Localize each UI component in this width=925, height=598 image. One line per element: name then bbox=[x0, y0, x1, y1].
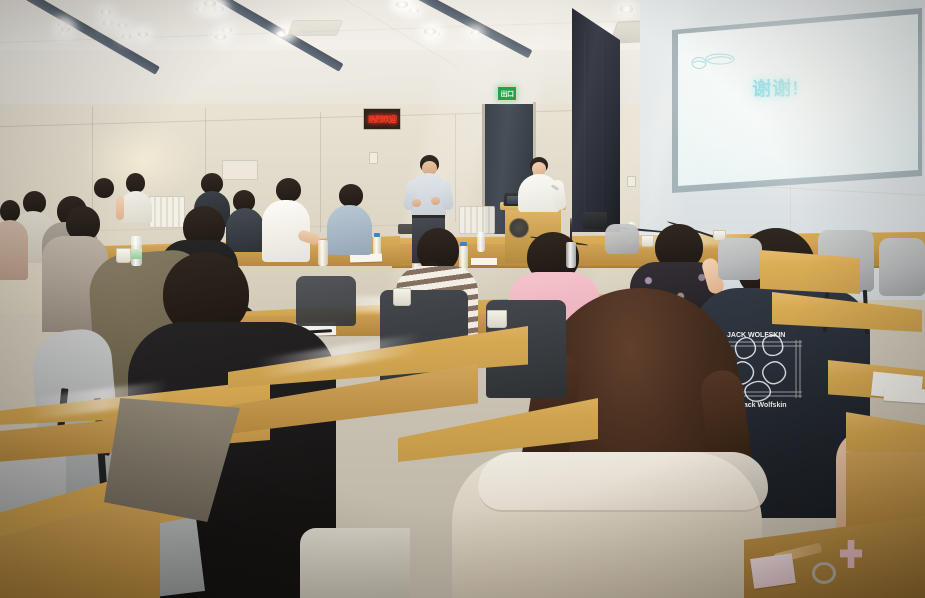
paper-sheet[interactable] bbox=[471, 258, 497, 265]
paper-card[interactable] bbox=[750, 553, 796, 589]
lanyard-ring-icon bbox=[812, 562, 836, 584]
exit-sign-text: 出口 bbox=[501, 89, 514, 99]
paper-cup[interactable] bbox=[393, 288, 411, 306]
ceiling-downlight bbox=[61, 27, 70, 32]
wall-sign-small bbox=[222, 160, 258, 180]
ceiling-downlight bbox=[471, 30, 480, 35]
attendee-torso bbox=[0, 220, 28, 280]
paper-cup[interactable] bbox=[487, 310, 507, 328]
attendee-longhair-ruffle-collar bbox=[478, 452, 768, 512]
paper-cup[interactable] bbox=[116, 248, 131, 263]
ceiling-downlight bbox=[118, 23, 127, 28]
bottle-cap-icon bbox=[460, 242, 467, 246]
ceiling-air-vent bbox=[287, 20, 343, 36]
emergency-exit-sign: 出口 bbox=[497, 86, 517, 101]
conference-room-photo: 热烈欢迎 出口 谢谢! bbox=[0, 0, 925, 598]
curtain-fold bbox=[602, 38, 605, 228]
attendee-torso bbox=[226, 208, 264, 252]
chair-empty[interactable] bbox=[879, 238, 925, 296]
water-bottle[interactable] bbox=[477, 232, 485, 252]
ceiling-downlight bbox=[222, 27, 232, 33]
attendee-head bbox=[339, 184, 363, 207]
attendee-torso bbox=[120, 191, 152, 223]
attendee-head bbox=[276, 178, 301, 202]
ceiling-downlight bbox=[103, 20, 113, 26]
speaker-standing-hand bbox=[412, 199, 421, 207]
paper-sheet[interactable] bbox=[884, 387, 925, 404]
attendee-head bbox=[94, 178, 114, 198]
attendee-head bbox=[126, 173, 145, 193]
wall-switch-plate[interactable] bbox=[627, 176, 636, 187]
ceiling-downlight bbox=[204, 0, 216, 7]
wall-radiator bbox=[149, 196, 185, 228]
led-sign-text: 热烈欢迎 bbox=[368, 114, 396, 125]
svg-text:JACK WOLFSKIN: JACK WOLFSKIN bbox=[727, 332, 785, 339]
water-bottle[interactable] bbox=[318, 240, 328, 266]
ceiling-downlight bbox=[138, 32, 148, 37]
curtain-fold bbox=[584, 30, 588, 228]
wall-panel-seam bbox=[455, 114, 456, 222]
bottle-cap-icon bbox=[374, 233, 380, 237]
led-welcome-sign: 热烈欢迎 bbox=[363, 108, 401, 130]
ceiling-downlight bbox=[620, 5, 633, 13]
attendee-torso bbox=[327, 205, 372, 255]
svg-text:Jack Wolfskin: Jack Wolfskin bbox=[740, 402, 787, 409]
ceiling-downlight bbox=[424, 28, 436, 35]
chair-occupied[interactable] bbox=[296, 276, 356, 326]
institution-logo bbox=[690, 52, 736, 69]
ceiling-downlight bbox=[213, 6, 224, 12]
wall-switch-plate[interactable] bbox=[369, 152, 378, 164]
ceiling-downlight bbox=[122, 34, 131, 39]
attendee-arm bbox=[116, 196, 124, 220]
speaker-standing-hand bbox=[431, 197, 440, 205]
attendee-foreground-left-shirt bbox=[300, 528, 410, 598]
slide-thank-you-text: 谢谢! bbox=[716, 72, 837, 102]
wall-panel-seam bbox=[92, 106, 93, 224]
bottle-label bbox=[131, 249, 142, 259]
lectern-emblem-icon bbox=[509, 218, 529, 238]
water-bottle[interactable] bbox=[566, 242, 576, 268]
wall-radiator bbox=[459, 206, 495, 234]
chair-empty[interactable] bbox=[605, 224, 639, 254]
ceiling-downlight bbox=[409, 8, 419, 13]
attendee-head bbox=[0, 200, 20, 222]
wall-panel-seam bbox=[320, 112, 321, 232]
ceiling-downlight bbox=[196, 6, 206, 11]
ceiling-downlight bbox=[396, 1, 408, 8]
paper-cup[interactable] bbox=[641, 235, 654, 247]
ceiling-downlight bbox=[101, 9, 111, 15]
ceiling-downlight bbox=[215, 34, 226, 40]
front-table-monitor bbox=[583, 212, 607, 229]
chair-empty[interactable] bbox=[718, 238, 762, 280]
